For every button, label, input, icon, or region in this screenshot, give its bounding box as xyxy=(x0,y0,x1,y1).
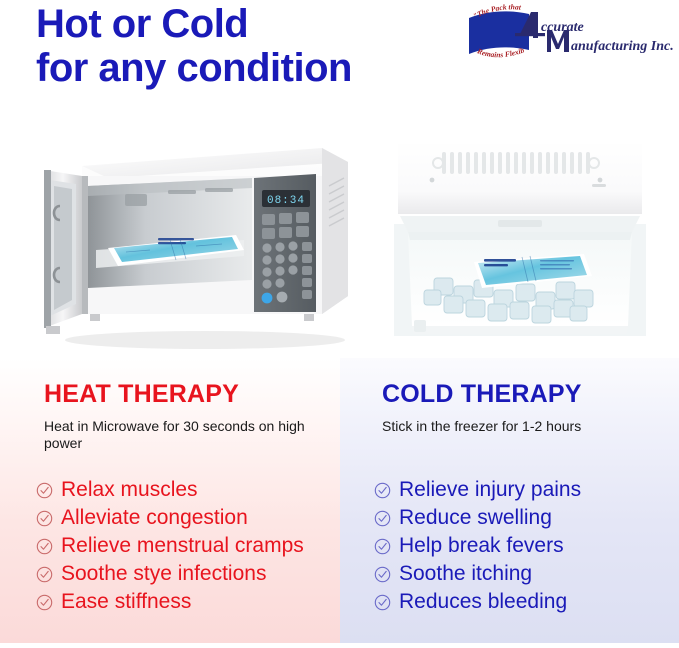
logo-word-accurate: ccurate xyxy=(541,20,584,35)
circled-check-icon xyxy=(36,510,53,527)
circled-check-icon xyxy=(36,566,53,583)
circled-check-icon xyxy=(36,482,53,499)
benefit-label: Soothe stye infections xyxy=(61,560,266,588)
list-item: Soothe stye infections xyxy=(36,560,304,588)
freezer-door xyxy=(398,138,642,214)
freezer-photo xyxy=(370,128,670,360)
circled-check-icon xyxy=(36,538,53,555)
cold-therapy-panel: COLD THERAPY Stick in the freezer for 1-… xyxy=(340,358,679,643)
circled-check-icon xyxy=(374,510,391,527)
circled-check-icon xyxy=(374,594,391,611)
benefit-label: Ease stiffness xyxy=(61,588,191,616)
microwave-display-value: 08:34 xyxy=(267,195,305,207)
benefit-label: Relax muscles xyxy=(61,476,198,504)
list-item: Help break fevers xyxy=(374,532,581,560)
list-item: Reduce swelling xyxy=(374,504,581,532)
infographic-page: Hot or Cold for any condition ccurate an… xyxy=(0,0,679,648)
benefit-label: Alleviate congestion xyxy=(61,504,248,532)
therapy-panels: HEAT THERAPY Heat in Microwave for 30 se… xyxy=(0,358,679,643)
cold-therapy-title: COLD THERAPY xyxy=(382,380,582,409)
company-logo: ccurate anufacturing Inc. "The Pack that… xyxy=(455,4,677,60)
cold-therapy-instruction: Stick in the freezer for 1-2 hours xyxy=(382,418,667,435)
microwave-door xyxy=(44,170,82,328)
list-item: Soothe itching xyxy=(374,560,581,588)
logo-word-manufacturing: anufacturing Inc. xyxy=(571,39,674,54)
photo-row: 08:34 xyxy=(0,128,679,360)
list-item: Relieve injury pains xyxy=(374,476,581,504)
benefit-label: Relieve menstrual cramps xyxy=(61,532,304,560)
heat-therapy-title: HEAT THERAPY xyxy=(44,380,239,409)
microwave-control-panel: 08:34 xyxy=(254,174,316,312)
cold-benefits-list: Relieve injury pains Reduce swelling xyxy=(374,476,581,616)
circled-check-icon xyxy=(374,566,391,583)
list-item: Relieve menstrual cramps xyxy=(36,532,304,560)
benefit-label: Help break fevers xyxy=(399,532,564,560)
heat-therapy-panel: HEAT THERAPY Heat in Microwave for 30 se… xyxy=(0,358,340,643)
benefit-label: Reduces bleeding xyxy=(399,588,567,616)
list-item: Reduces bleeding xyxy=(374,588,581,616)
circled-check-icon xyxy=(374,482,391,499)
list-item: Ease stiffness xyxy=(36,588,304,616)
circled-check-icon xyxy=(36,594,53,611)
benefit-label: Reduce swelling xyxy=(399,504,552,532)
headline-line-2: for any condition xyxy=(36,46,456,90)
heat-benefits-list: Relax muscles Alleviate congestion xyxy=(36,476,304,616)
microwave-photo: 08:34 xyxy=(30,128,360,360)
benefit-label: Soothe itching xyxy=(399,560,532,588)
list-item: Alleviate congestion xyxy=(36,504,304,532)
microwave-start-button xyxy=(262,293,273,304)
circled-check-icon xyxy=(374,538,391,555)
benefit-label: Relieve injury pains xyxy=(399,476,581,504)
list-item: Relax muscles xyxy=(36,476,304,504)
heat-therapy-instruction: Heat in Microwave for 30 seconds on high… xyxy=(44,418,329,452)
page-title: Hot or Cold for any condition xyxy=(36,2,456,90)
headline-line-1: Hot or Cold xyxy=(36,2,248,46)
